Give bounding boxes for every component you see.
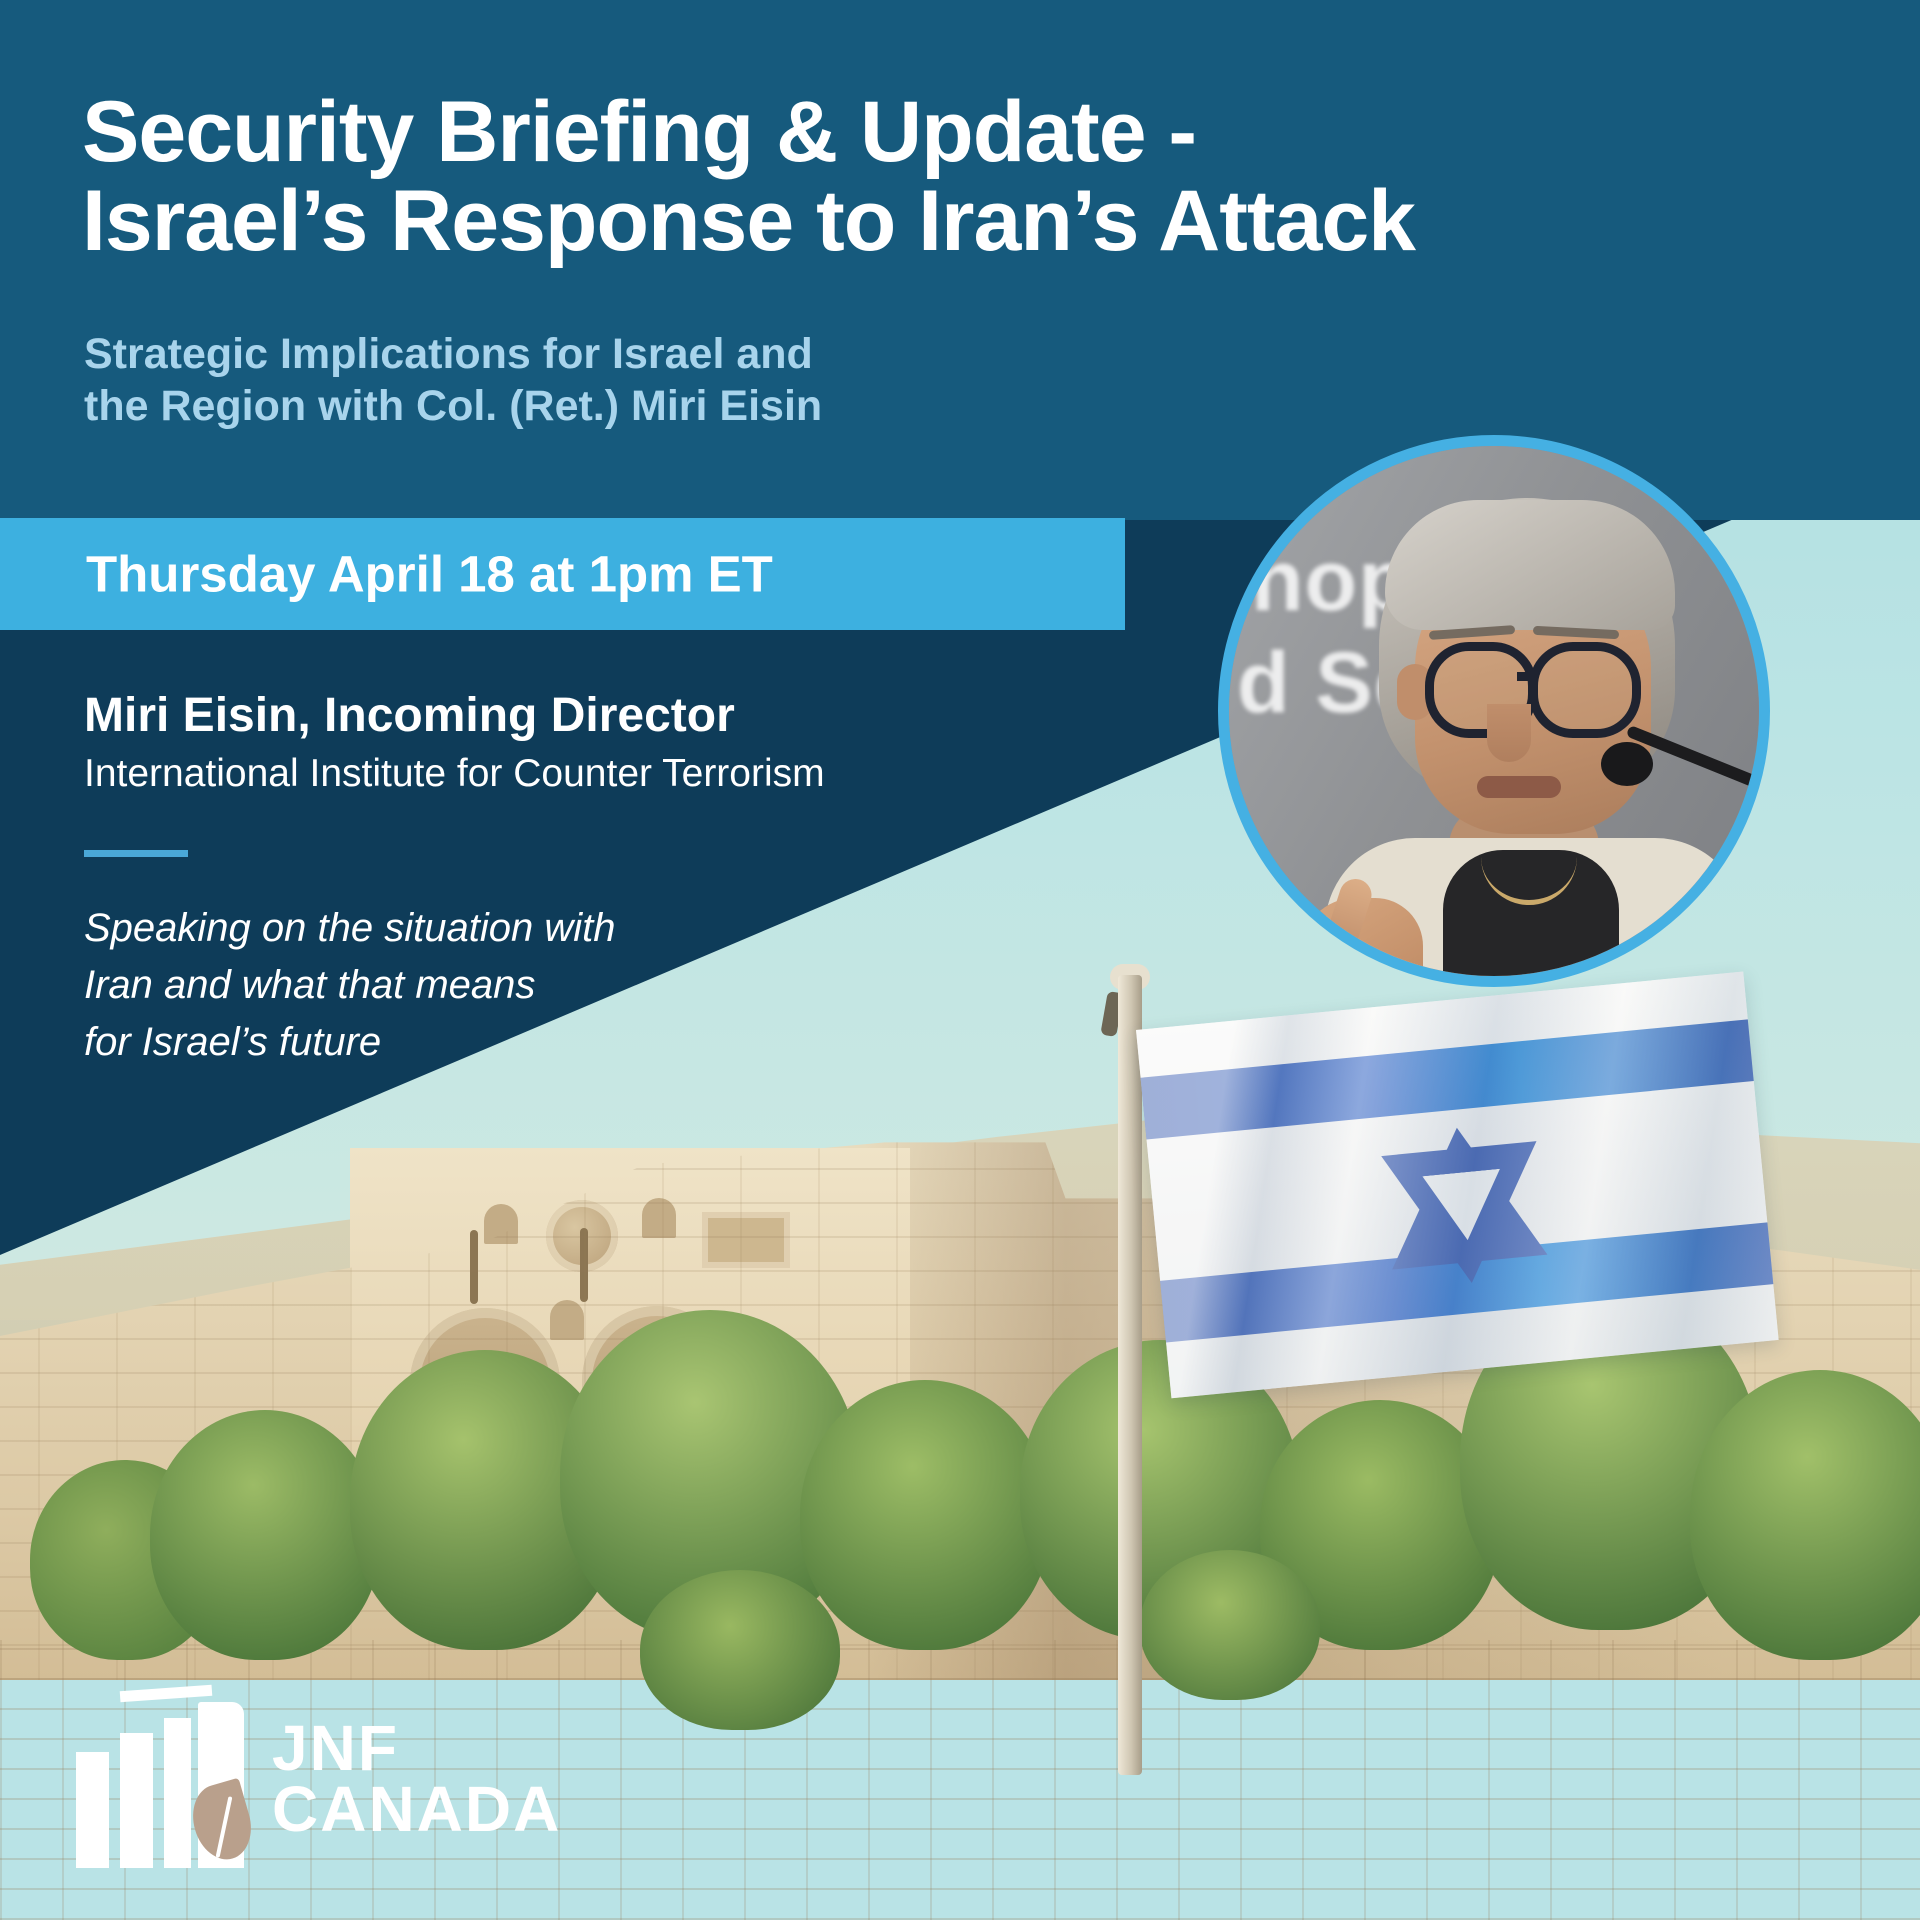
date-banner-text: Thursday April 18 at 1pm ET	[86, 545, 773, 604]
poster-content: Security Briefing & Update - Israel’s Re…	[0, 0, 1920, 1920]
speaker-name: Miri Eisin, Incoming Director	[84, 688, 735, 743]
logo-top-bar	[120, 1685, 213, 1702]
jnf-logo-mark-icon	[76, 1700, 244, 1868]
jnf-canada-logo: JNF CANADA	[76, 1700, 496, 1870]
microphone-head	[1601, 742, 1653, 786]
mouth	[1477, 776, 1561, 798]
logo-text-jnf: JNF	[272, 1718, 561, 1779]
blurb-line-2: Iran and what that means	[84, 957, 844, 1014]
title-line-1: Security Briefing & Update -	[82, 84, 1196, 180]
subtitle: Strategic Implications for Israel and th…	[84, 328, 1084, 433]
logo-bar	[164, 1718, 191, 1868]
event-promo-poster: Security Briefing & Update - Israel’s Re…	[0, 0, 1920, 1920]
eyeglasses-right-lens	[1529, 642, 1641, 738]
speaker-blurb: Speaking on the situation with Iran and …	[84, 900, 844, 1070]
logo-wordmark: JNF CANADA	[272, 1718, 561, 1841]
logo-bar	[76, 1752, 109, 1868]
speaker-headshot-avatar: hop d Se	[1218, 435, 1770, 987]
subtitle-line-2: the Region with Col. (Ret.) Miri Eisin	[84, 382, 822, 430]
speaker-organization: International Institute for Counter Terr…	[84, 752, 825, 796]
blurb-line-1: Speaking on the situation with	[84, 900, 844, 957]
nose	[1487, 704, 1531, 762]
divider-rule	[84, 850, 188, 857]
blurb-line-3: for Israel’s future	[84, 1014, 844, 1071]
hair-front	[1385, 500, 1675, 630]
date-banner: Thursday April 18 at 1pm ET	[0, 518, 1125, 630]
subtitle-line-1: Strategic Implications for Israel and	[84, 330, 813, 378]
page-title: Security Briefing & Update - Israel’s Re…	[82, 88, 1512, 267]
logo-bar	[120, 1733, 153, 1868]
title-line-2: Israel’s Response to Iran’s Attack	[82, 177, 1512, 266]
logo-text-canada: CANADA	[272, 1779, 561, 1840]
eyeglasses-bridge	[1517, 672, 1535, 681]
